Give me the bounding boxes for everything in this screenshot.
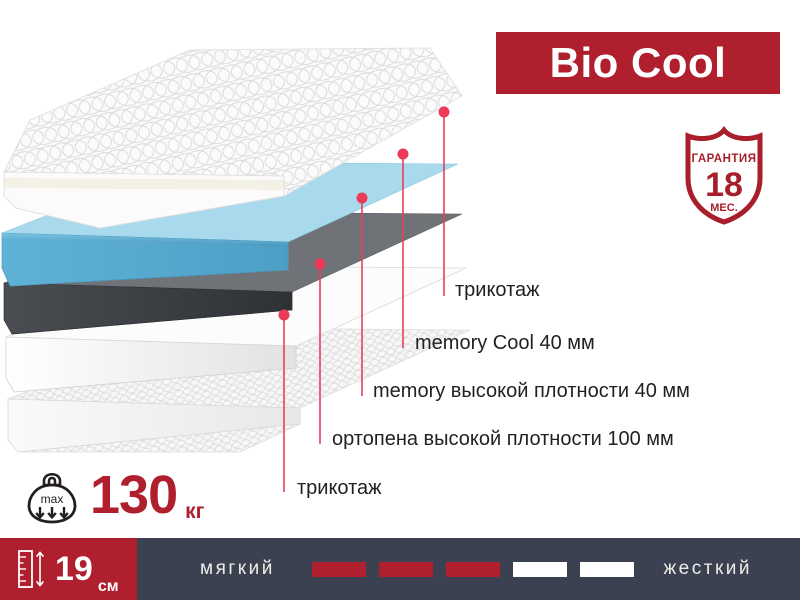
layer-label-memory-high-density: memory высокой плотности 40 мм	[373, 381, 690, 401]
ruler-icon	[17, 549, 47, 589]
max-weight-indicator: max 130 кг	[26, 461, 204, 529]
firmness-segment	[312, 562, 366, 577]
layer-label-trikotazh-bottom: трикотаж	[297, 478, 382, 498]
product-infographic: трикотаж memory Cool 40 мм memory высоко…	[0, 0, 800, 600]
warranty-bottom-text: МЕС.	[710, 202, 738, 214]
max-weight-value: 130	[90, 468, 177, 522]
height-unit: см	[98, 578, 119, 600]
firmness-soft-label: мягкий	[200, 558, 275, 580]
firmness-segments	[312, 562, 634, 577]
kettlebell-max-text: max	[41, 492, 64, 506]
kettlebell-icon: max	[26, 465, 78, 525]
warranty-top-text: ГАРАНТИЯ	[692, 153, 757, 165]
warranty-number: 18	[705, 166, 743, 204]
height-indicator: 19 см	[0, 538, 137, 600]
layer-label-memory-cool: memory Cool 40 мм	[415, 333, 595, 353]
layer-label-trikotazh-top: трикотаж	[455, 280, 540, 300]
mattress-illustration	[0, 0, 520, 500]
firmness-scale: мягкий жесткий	[137, 538, 800, 600]
spec-bar: 19 см мягкий жесткий	[0, 538, 800, 600]
firmness-segment	[446, 562, 500, 577]
layer-shape-quilted-top	[4, 48, 462, 228]
warranty-badge: ГАРАНТИЯ 18 МЕС.	[676, 126, 772, 226]
layer-label-ortopena-high-density: ортопена высокой плотности 100 мм	[332, 429, 674, 449]
firmness-hard-label: жесткий	[663, 558, 752, 580]
max-weight-unit: кг	[185, 500, 204, 529]
firmness-segment	[513, 562, 567, 577]
firmness-segment	[580, 562, 634, 577]
height-value: 19	[55, 552, 93, 586]
brand-title: Bio Cool	[550, 42, 727, 84]
brand-banner: Bio Cool	[496, 32, 780, 94]
firmness-segment	[379, 562, 433, 577]
